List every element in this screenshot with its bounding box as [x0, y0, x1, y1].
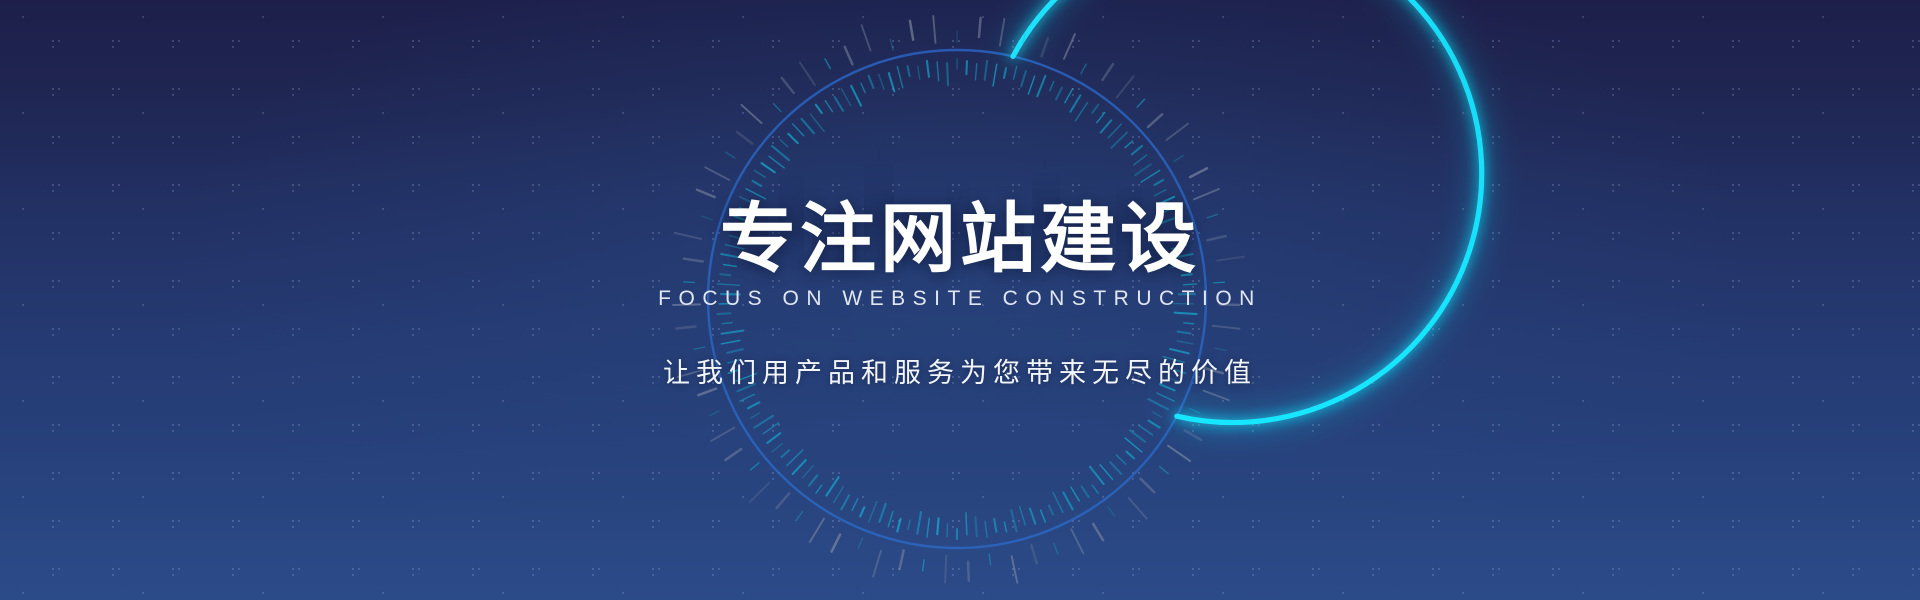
- subtitle-english: FOCUS ON WEBSITE CONSTRUCTION: [658, 287, 1262, 311]
- banner-content: 专注网站建设 FOCUS ON WEBSITE CONSTRUCTION 让我们…: [0, 0, 1920, 600]
- hero-banner: 专注网站建设 FOCUS ON WEBSITE CONSTRUCTION 让我们…: [0, 0, 1920, 600]
- page-title: 专注网站建设: [720, 201, 1200, 277]
- tagline-chinese: 让我们用产品和服务为您带来无尽的价值: [663, 351, 1257, 390]
